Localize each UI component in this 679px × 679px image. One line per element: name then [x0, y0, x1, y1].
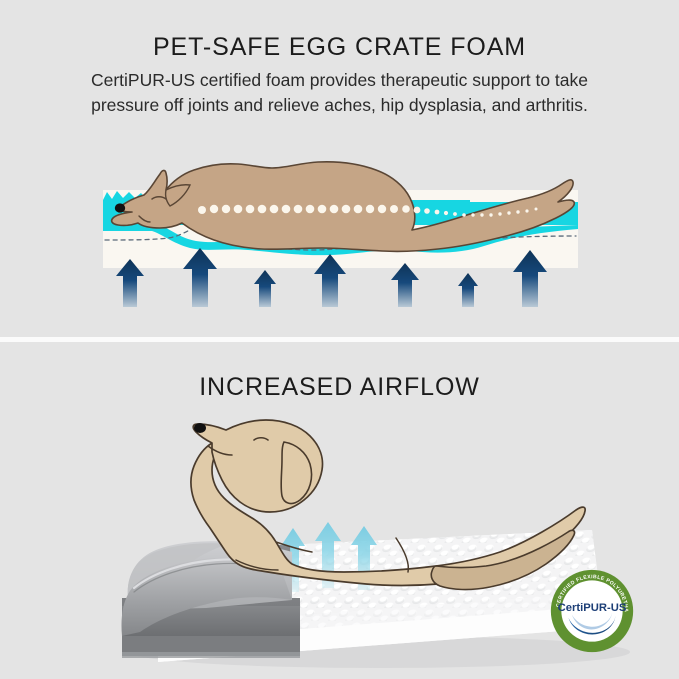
- section-1-subtitle-line-2: pressure off joints and relieve aches, h…: [91, 95, 588, 115]
- dog-nose: [194, 423, 206, 433]
- certipur-us-seal: CONTAINS CERTIFIED FLEXIBLE POLYURETHANE…: [550, 569, 634, 653]
- section-2-title: INCREASED AIRFLOW: [0, 373, 679, 402]
- infographic-page: PET-SAFE EGG CRATE FOAM CertiPUR-US cert…: [0, 0, 679, 679]
- section-1-subtitle-line-1: CertiPUR-US certified foam provides ther…: [91, 70, 588, 90]
- badge-brand-text: CertiPUR-US: [558, 602, 627, 614]
- badge-registered-mark: ®: [623, 603, 626, 607]
- dog-on-foam-cross-section-illustration: [0, 130, 679, 330]
- section-1-subtitle: CertiPUR-US certified foam provides ther…: [22, 68, 657, 118]
- dog-nose: [115, 203, 125, 212]
- section-1-title: PET-SAFE EGG CRATE FOAM: [0, 33, 679, 62]
- section-pet-safe-egg-crate-foam: PET-SAFE EGG CRATE FOAM CertiPUR-US cert…: [0, 0, 679, 337]
